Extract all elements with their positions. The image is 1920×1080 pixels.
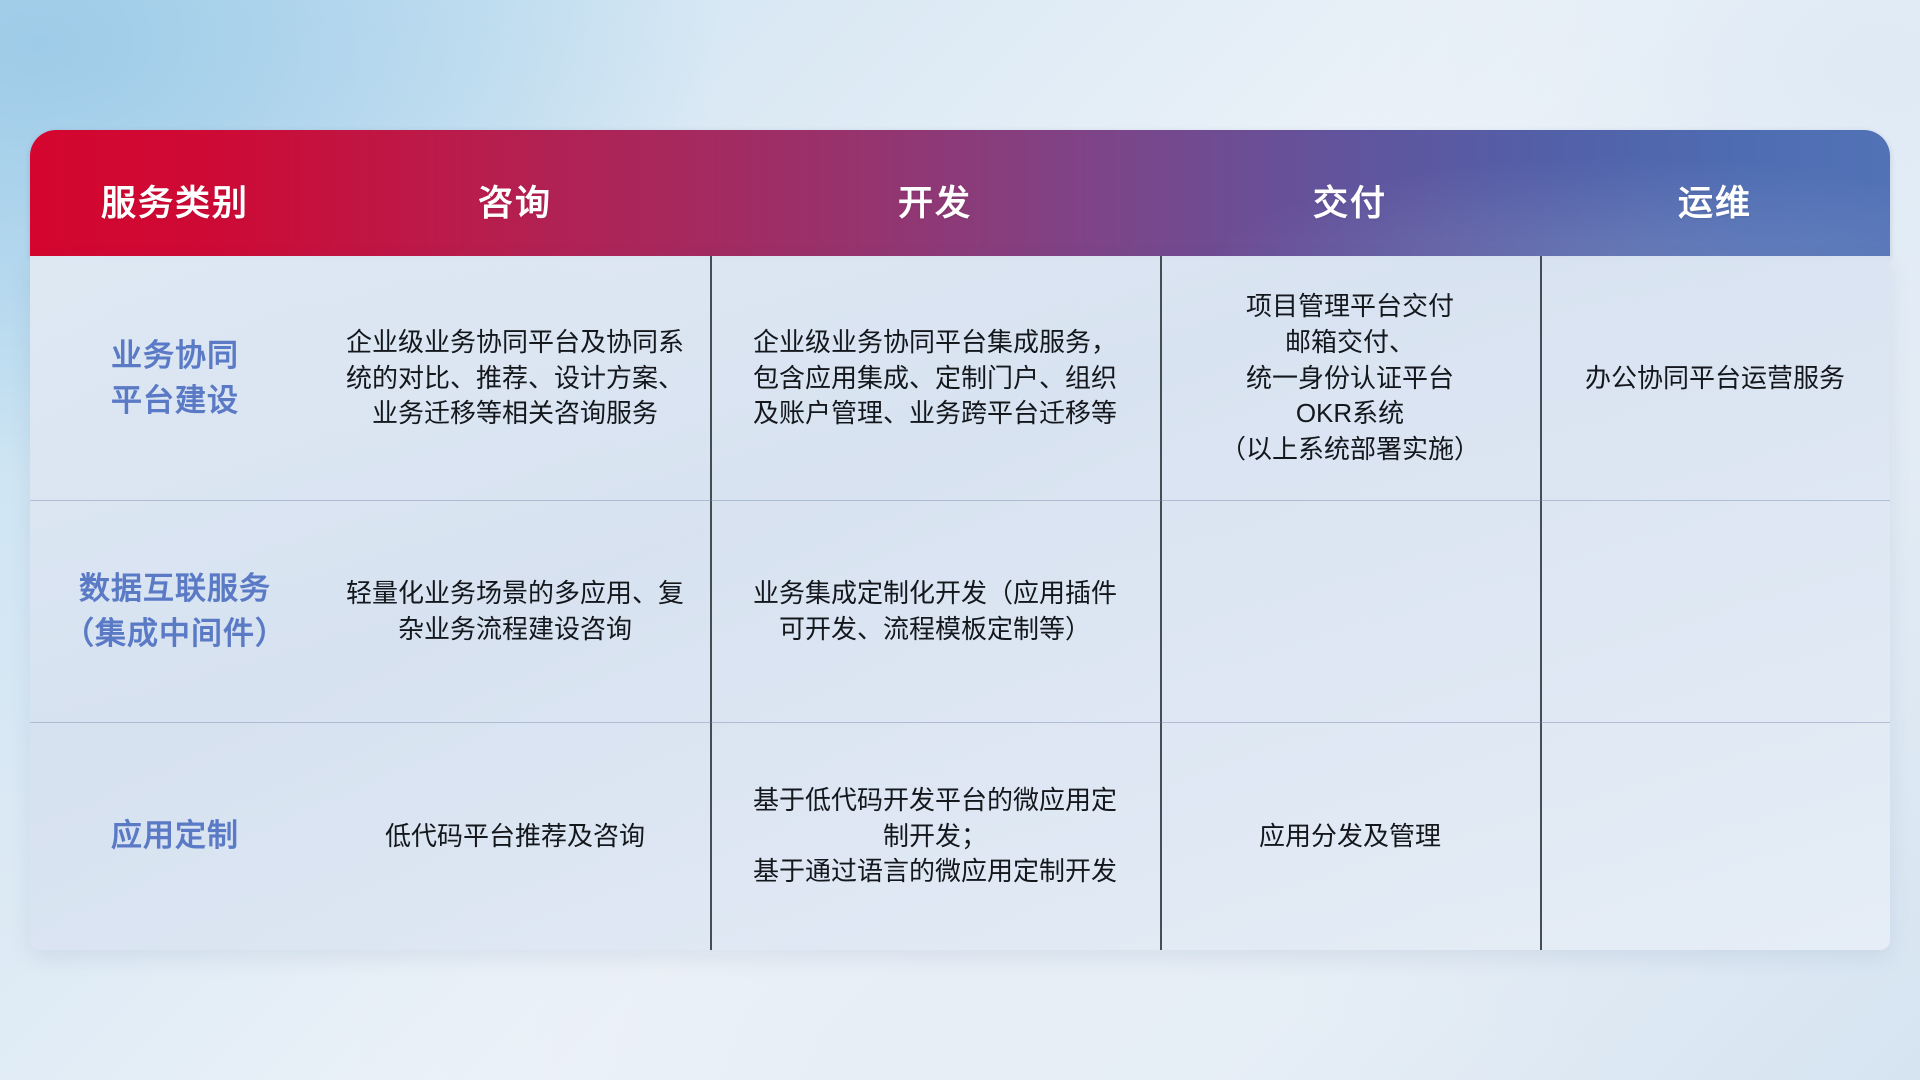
column-header-consulting: 咨询 <box>320 175 710 256</box>
cell-development-row2: 业务集成定制化开发（应用插件 可开发、流程模板定制等） <box>710 501 1160 723</box>
cell-delivery-row2 <box>1160 501 1540 723</box>
service-matrix-table: 服务类别 咨询 开发 交付 运维 业务协同 平台建设 企业级业务协同平台及协同系… <box>30 130 1890 950</box>
cell-operations-row3 <box>1540 723 1890 950</box>
table-body: 业务协同 平台建设 企业级业务协同平台及协同系 统的对比、推荐、设计方案、 业务… <box>30 256 1890 950</box>
cell-consulting-row1: 企业级业务协同平台及协同系 统的对比、推荐、设计方案、 业务迁移等相关咨询服务 <box>320 256 710 501</box>
table-row: 应用定制 低代码平台推荐及咨询 基于低代码开发平台的微应用定 制开发； 基于通过… <box>30 723 1890 950</box>
column-header-operations: 运维 <box>1540 175 1890 256</box>
row-label-business-collaboration: 业务协同 平台建设 <box>30 256 320 501</box>
column-header-development: 开发 <box>710 175 1160 256</box>
row-label-app-customization: 应用定制 <box>30 723 320 950</box>
cell-development-row1: 企业级业务协同平台集成服务， 包含应用集成、定制门户、组织 及账户管理、业务跨平… <box>710 256 1160 501</box>
cell-operations-row2 <box>1540 501 1890 723</box>
column-header-service-category: 服务类别 <box>30 175 320 256</box>
cell-consulting-row2: 轻量化业务场景的多应用、复 杂业务流程建设咨询 <box>320 501 710 723</box>
row-label-data-integration: 数据互联服务 （集成中间件） <box>30 501 320 723</box>
cell-consulting-row3: 低代码平台推荐及咨询 <box>320 723 710 950</box>
column-header-delivery: 交付 <box>1160 175 1540 256</box>
slide-canvas: 服务类别 咨询 开发 交付 运维 业务协同 平台建设 企业级业务协同平台及协同系… <box>0 0 1920 1080</box>
cell-delivery-row1: 项目管理平台交付 邮箱交付、 统一身份认证平台 OKR系统 （以上系统部署实施） <box>1160 256 1540 501</box>
table-row: 数据互联服务 （集成中间件） 轻量化业务场景的多应用、复 杂业务流程建设咨询 业… <box>30 501 1890 723</box>
table-header-row: 服务类别 咨询 开发 交付 运维 <box>30 130 1890 256</box>
table-row: 业务协同 平台建设 企业级业务协同平台及协同系 统的对比、推荐、设计方案、 业务… <box>30 256 1890 501</box>
cell-delivery-row3: 应用分发及管理 <box>1160 723 1540 950</box>
cell-operations-row1: 办公协同平台运营服务 <box>1540 256 1890 501</box>
cell-development-row3: 基于低代码开发平台的微应用定 制开发； 基于通过语言的微应用定制开发 <box>710 723 1160 950</box>
